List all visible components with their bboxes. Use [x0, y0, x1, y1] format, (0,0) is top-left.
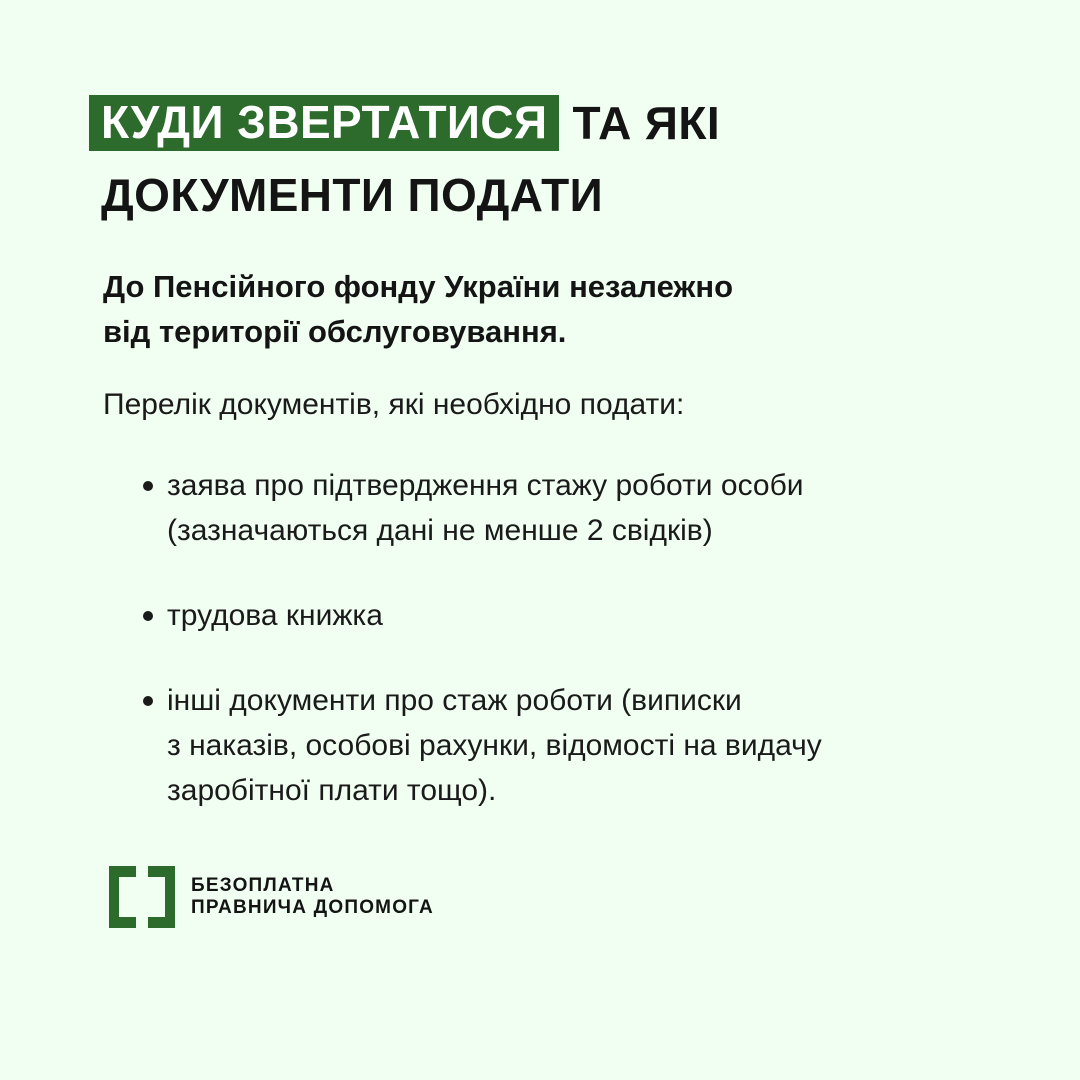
lead-paragraph: До Пенсійного фонду України незалежно ві…: [103, 264, 923, 354]
logo-line-2: ПРАВНИЧА ДОПОМОГА: [191, 897, 434, 919]
lead-line-2: від території обслуговування.: [103, 309, 923, 354]
list-item-line: трудова книжка: [167, 593, 1023, 638]
logo-line-1: БЕЗОПЛАТНА: [191, 875, 434, 897]
title-line-2: ДОКУМЕНТИ ПОДАТИ: [91, 167, 991, 224]
infographic-card: КУДИ ЗВЕРТАТИСЯ ТА ЯКІ ДОКУМЕНТИ ПОДАТИ …: [0, 0, 1080, 1080]
logo: БЕЗОПЛАТНА ПРАВНИЧА ДОПОМОГА: [109, 866, 434, 928]
list-item: заява про підтвердження стажу роботи осо…: [103, 463, 1023, 553]
square-brackets-icon: [109, 866, 175, 928]
list-item: трудова книжка: [103, 593, 1023, 638]
list-item: інші документи про стаж роботи (виписки …: [103, 678, 1023, 813]
bullet-dot-icon: [143, 696, 153, 706]
list-item-line: інші документи про стаж роботи (виписки: [167, 678, 1023, 723]
bullet-dot-icon: [143, 481, 153, 491]
page-title: КУДИ ЗВЕРТАТИСЯ ТА ЯКІ ДОКУМЕНТИ ПОДАТИ: [91, 95, 991, 224]
title-line-1: КУДИ ЗВЕРТАТИСЯ ТА ЯКІ: [91, 95, 991, 151]
title-highlight: КУДИ ЗВЕРТАТИСЯ: [89, 95, 559, 151]
bracket-left-icon: [109, 866, 136, 928]
list-item-line: з наказів, особові рахунки, відомості на…: [167, 723, 1023, 768]
documents-list: заява про підтвердження стажу роботи осо…: [103, 463, 1023, 813]
list-item-line: заява про підтвердження стажу роботи осо…: [167, 463, 1023, 508]
bullet-dot-icon: [143, 611, 153, 621]
list-item-line: (зазначаються дані не менше 2 свідків): [167, 508, 1023, 553]
lead-line-1: До Пенсійного фонду України незалежно: [103, 264, 923, 309]
intro-text: Перелік документів, які необхідно подати…: [103, 385, 963, 425]
bracket-right-icon: [148, 866, 175, 928]
logo-text: БЕЗОПЛАТНА ПРАВНИЧА ДОПОМОГА: [191, 875, 434, 919]
list-item-line: заробітної плати тощо).: [167, 768, 1023, 813]
title-line-1-rest: ТА ЯКІ: [572, 103, 720, 143]
